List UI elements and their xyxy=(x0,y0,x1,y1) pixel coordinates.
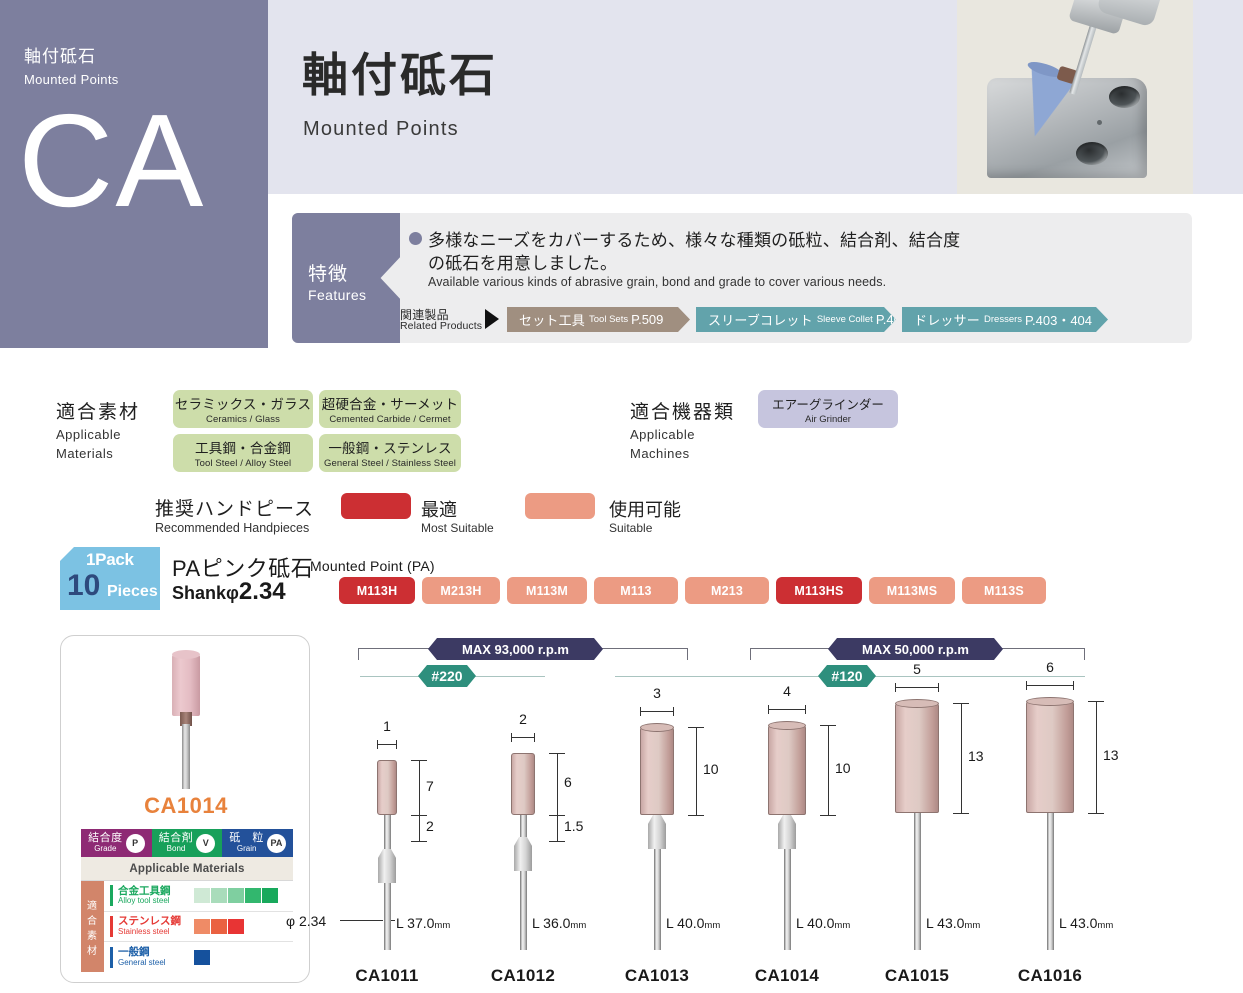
related-en: Sleeve Collet xyxy=(817,314,873,325)
shaft-taper xyxy=(778,815,796,849)
machine-chip-jp: エアーグラインダー xyxy=(772,394,884,413)
product-code: CA1016 xyxy=(985,966,1115,986)
handpiece-chip-m113ms[interactable]: M113MS xyxy=(869,577,955,604)
length-value-1: 13 xyxy=(1103,747,1119,763)
applicable-materials-label-en2: Materials xyxy=(56,446,113,461)
material-chip-en: Tool Steel / Alloy Steel xyxy=(195,458,291,469)
overall-length: L 40.0mm xyxy=(796,915,850,931)
features-line1: 多様なニーズをカバーするため、様々な種類の砥粒、結合剤、結合度 xyxy=(428,226,960,251)
spec-header-bond: 結合剤BondV xyxy=(152,829,223,857)
related-page: P.509 xyxy=(631,312,663,327)
handpiece-chip-m113m[interactable]: M113M xyxy=(507,577,587,604)
handpiece-chip-list: M113HM213HM113MM113M213M113HSM113MSM113S xyxy=(339,577,1046,604)
features-tab: 特徴 Features xyxy=(292,213,400,343)
related-en: Tool Sets xyxy=(589,314,628,325)
spec-applicable-materials-label: Applicable Materials xyxy=(81,857,293,880)
shaft-taper xyxy=(378,849,396,883)
abrasive-head-top xyxy=(172,650,200,659)
material-chip-jp: セラミックス・ガラス xyxy=(175,393,311,413)
related-jp: セット工具 xyxy=(519,310,585,329)
spec-row: 合金工具鋼Alloy tool steel xyxy=(104,881,293,912)
overall-length: L 43.0mm xyxy=(1059,915,1113,931)
length-value-1: 10 xyxy=(703,761,719,777)
rpm-label-2: MAX 50,000 r.p.m xyxy=(828,638,1003,660)
shaft-taper xyxy=(514,837,532,871)
diameter-value: 1 xyxy=(322,718,452,734)
abrasive-body-top xyxy=(895,699,939,708)
spec-side-char: 合 xyxy=(87,912,98,927)
related-page: P.403・404 xyxy=(1025,310,1092,329)
legend-label-suitable-en: Suitable xyxy=(609,521,652,535)
diameter-value: 5 xyxy=(852,661,982,677)
material-chip-en: General Steel / Stainless Steel xyxy=(324,458,456,469)
abrasive-head xyxy=(172,654,200,716)
length-value-1: 7 xyxy=(426,778,434,794)
shaft xyxy=(1047,811,1054,950)
features-description-en: Available various kinds of abrasive grai… xyxy=(428,275,886,289)
triangle-right-icon xyxy=(485,309,499,329)
applicable-machines-label-en2: Machines xyxy=(630,446,690,461)
abrasive-body xyxy=(511,753,535,815)
page-title-jp: 軸付砥石 xyxy=(302,52,498,98)
material-chip-jp: 工具鋼・合金鋼 xyxy=(195,437,291,457)
material-chip-en: Cemented Carbide / Cermet xyxy=(329,414,450,425)
overall-length: L 43.0mm xyxy=(926,915,980,931)
applicable-machines-label-jp: 適合機器類 xyxy=(630,397,735,424)
abrasive-body xyxy=(768,725,806,815)
handpiece-chip-m213h[interactable]: M213H xyxy=(422,577,500,604)
workpiece-hole xyxy=(1076,142,1108,165)
product-detail-card: CA1014 結合度GradeP結合剤BondV砥 粒GrainPA Appli… xyxy=(60,635,310,983)
card-product-code: CA1014 xyxy=(61,793,311,819)
shank-phi-icon: φ xyxy=(226,583,239,603)
spec-side-char: 適 xyxy=(87,897,98,912)
abrasive-body-top xyxy=(768,721,806,730)
handpiece-chip-m213[interactable]: M213 xyxy=(685,577,769,604)
abrasive-body xyxy=(1026,701,1074,813)
material-chip-jp: 超硬合金・サーメット xyxy=(322,393,458,413)
page-title-en: Mounted Points xyxy=(303,118,459,141)
overall-length: L 37.0mm xyxy=(396,915,450,931)
hero-photo xyxy=(957,0,1193,194)
workpiece-dot xyxy=(1097,120,1102,125)
legend-swatch-most-suitable xyxy=(341,493,411,519)
handpiece-chip-m113[interactable]: M113 xyxy=(594,577,678,604)
spec-table: 結合度GradeP結合剤BondV砥 粒GrainPA Applicable M… xyxy=(81,829,293,972)
machine-chip-en: Air Grinder xyxy=(805,414,851,425)
rpm-bar-2: MAX 50,000 r.p.m xyxy=(750,638,1085,660)
handpiece-chip-m113hs[interactable]: M113HS xyxy=(776,577,862,604)
spec-side-char: 素 xyxy=(87,927,98,942)
spec-header-grade: 結合度GradeP xyxy=(81,829,152,857)
length-value-2: 2 xyxy=(426,818,434,834)
shank-spec: Shankφ2.34 xyxy=(172,578,286,606)
category-sidebar: 軸付砥石 Mounted Points CA xyxy=(0,0,268,348)
spec-table-header: 結合度GradeP結合剤BondV砥 粒GrainPA xyxy=(81,829,293,857)
grit-label-1: #220 xyxy=(418,665,476,687)
features-panel: 特徴 Features 多様なニーズをカバーするため、様々な種類の砥粒、結合剤、… xyxy=(292,213,1192,343)
material-chip-general-steel: 一般鋼・ステンレス General Steel / Stainless Stee… xyxy=(319,434,461,472)
related-link-tool-sets[interactable]: セット工具 Tool Sets P.509 xyxy=(507,307,690,332)
length-value-1: 10 xyxy=(835,760,851,776)
length-value-1: 6 xyxy=(564,774,572,790)
handpieces-label-en: Recommended Handpieces xyxy=(155,521,309,535)
product-name-en: Mounted Point (PA) xyxy=(310,558,435,574)
spec-table-body: 適 合 素 材 合金工具鋼Alloy tool steelステンレス鋼Stain… xyxy=(81,880,293,972)
material-chip-ceramics: セラミックス・ガラス Ceramics / Glass xyxy=(173,390,313,428)
workpiece-hole xyxy=(1109,86,1140,108)
legend-label-suitable-jp: 使用可能 xyxy=(609,496,681,522)
features-tab-label-jp: 特徴 xyxy=(308,259,348,286)
diameter-value: 3 xyxy=(592,685,722,701)
product-code: CA1014 xyxy=(722,966,852,986)
pieces-count: 10 xyxy=(67,571,100,601)
abrasive-body xyxy=(895,703,939,813)
applicable-materials-label-jp: 適合素材 xyxy=(56,397,140,424)
shank-value: 2.34 xyxy=(239,578,286,605)
material-chip-tool-steel: 工具鋼・合金鋼 Tool Steel / Alloy Steel xyxy=(173,434,313,472)
spec-rows: 合金工具鋼Alloy tool steelステンレス鋼Stainless ste… xyxy=(104,881,293,972)
applicable-machines-label-en1: Applicable xyxy=(630,427,695,442)
rpm-label-1: MAX 93,000 r.p.m xyxy=(428,638,603,660)
abrasive-body-top xyxy=(640,723,674,732)
pieces-label: Pieces xyxy=(107,583,158,601)
spec-side-label: 適 合 素 材 xyxy=(81,881,104,972)
shaft xyxy=(520,813,527,950)
length-value-1: 13 xyxy=(968,748,984,764)
spec-row: 一般鋼General steel xyxy=(104,942,293,973)
category-code: CA xyxy=(18,95,205,227)
shank-label: Shank xyxy=(172,583,226,603)
length-value-2: 1.5 xyxy=(564,818,583,834)
related-products-label-en: Related Products xyxy=(400,320,482,332)
related-jp: ドレッサー xyxy=(914,310,980,329)
diameter-value: 6 xyxy=(985,659,1115,675)
diameter-value: 2 xyxy=(458,711,588,727)
product-code: CA1013 xyxy=(592,966,722,986)
machine-chip-air-grinder: エアーグラインダー Air Grinder xyxy=(758,390,898,428)
category-label-en: Mounted Points xyxy=(24,72,119,87)
handpieces-label-jp: 推奨ハンドピース xyxy=(155,494,314,521)
catalog-page: 軸付砥石 Mounted Points CA 軸付砥石 Mounted Poin… xyxy=(0,0,1243,993)
material-chip-en: Ceramics / Glass xyxy=(206,414,280,425)
overall-length: L 40.0mm xyxy=(666,915,720,931)
shaft xyxy=(914,811,921,950)
material-chip-jp: 一般鋼・ステンレス xyxy=(328,437,451,457)
spec-header-grain: 砥 粒GrainPA xyxy=(222,829,293,857)
shank-diameter-label: φ 2.34 xyxy=(286,913,326,929)
legend-label-most-suitable-en: Most Suitable xyxy=(421,521,494,535)
legend-swatch-suitable xyxy=(525,493,595,519)
legend-label-most-suitable-jp: 最適 xyxy=(421,496,457,522)
spec-row: ステンレス鋼Stainless steel xyxy=(104,912,293,943)
abrasive-body-top xyxy=(1026,697,1074,706)
features-tab-label-en: Features xyxy=(308,287,366,303)
applicable-materials-label-en1: Applicable xyxy=(56,427,121,442)
rpm-bar-1: MAX 93,000 r.p.m xyxy=(358,638,688,660)
handpiece-chip-m113h[interactable]: M113H xyxy=(339,577,415,604)
bullet-icon xyxy=(409,232,422,245)
overall-length: L 36.0mm xyxy=(532,915,586,931)
abrasive-body xyxy=(640,727,674,815)
related-link-dressers[interactable]: ドレッサー Dressers P.403・404 xyxy=(902,307,1108,332)
features-line2: の砥石を用意しました。 xyxy=(428,249,617,274)
product-code: CA1015 xyxy=(852,966,982,986)
pack-count-label: 1Pack xyxy=(86,550,134,570)
diameter-value: 4 xyxy=(722,683,852,699)
product-code: CA1011 xyxy=(322,966,452,986)
grit-bar-1: #220 xyxy=(360,665,545,687)
related-jp: スリーブコレット xyxy=(708,310,813,329)
category-label-jp: 軸付砥石 xyxy=(24,42,96,67)
related-link-sleeve-collet[interactable]: スリーブコレット Sleeve Collet P.400 xyxy=(696,307,896,332)
shaft-taper xyxy=(648,815,666,849)
related-en: Dressers xyxy=(984,314,1022,325)
product-photo xyxy=(61,654,311,789)
product-shaft xyxy=(182,724,190,789)
spec-side-char: 材 xyxy=(87,942,98,957)
abrasive-body xyxy=(377,760,397,815)
handpiece-chip-m113s[interactable]: M113S xyxy=(962,577,1046,604)
material-chip-carbide: 超硬合金・サーメット Cemented Carbide / Cermet xyxy=(319,390,461,428)
product-code: CA1012 xyxy=(458,966,588,986)
pack-quantity-badge: 1Pack 10 Pieces xyxy=(60,547,160,610)
